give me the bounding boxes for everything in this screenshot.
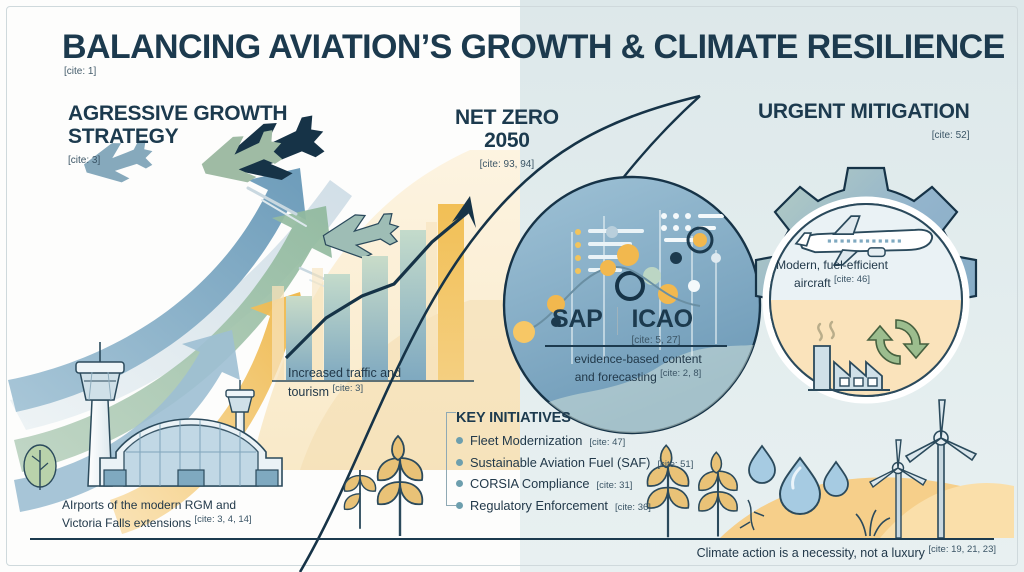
water-drop-icon	[780, 458, 820, 514]
footer-statement-citation: [cite: 19, 21, 23]	[928, 544, 996, 555]
key-initiative-label: Fleet Modernization	[470, 431, 582, 451]
section-heading-right-label: URGENT MITIGATION	[758, 100, 970, 123]
badge-divider	[617, 307, 618, 335]
key-initiative-label: CORSIA Compliance	[470, 474, 589, 494]
section-heading-left-line1: AGRESSIVE GROWTH	[68, 102, 287, 125]
footer-statement: Climate action is a necessity, not a lux…	[697, 544, 996, 560]
section-left-citation: [cite: 3]	[68, 149, 287, 172]
caption-increased-traffic-citation: [cite: 3]	[332, 383, 363, 394]
section-heading-center: NET ZERO 2050 [cite: 93, 94]	[455, 106, 559, 176]
bullet-dot-icon	[456, 459, 463, 466]
section-heading-center-line1: NET ZERO	[455, 106, 559, 129]
list-item: Sustainable Aviation Fuel (SAF) [cite: 5…	[456, 453, 693, 475]
footer-statement-text: Climate action is a necessity, not a lux…	[697, 546, 925, 560]
data-point	[600, 260, 616, 276]
section-heading-left-line2: STRATEGY	[68, 125, 178, 148]
badge-icao-wrap: ICAO [cite: 5, 27]	[632, 305, 693, 346]
data-bubble	[606, 226, 618, 238]
title-citation: [cite: 1]	[64, 66, 96, 77]
caption-modern-aircraft-citation: [cite: 46]	[834, 274, 870, 285]
key-initiative-citation: [cite: 51]	[657, 455, 693, 475]
key-initiative-citation: [cite: 47]	[589, 433, 625, 453]
badge-sap: SAP	[552, 305, 603, 334]
badge-subtitle-line1: evidence-based content	[574, 352, 701, 366]
caption-airports: AIrports of the modern RGM and Victoria …	[62, 498, 342, 530]
caption-airports-line2: Victoria Falls extensions	[62, 516, 191, 530]
caption-modern-aircraft-line1: Modern, fuel-efficient	[776, 258, 888, 272]
section-heading-left: AGRESSIVE GROWTH STRATEGY [cite: 3]	[68, 102, 287, 172]
caption-modern-aircraft-line2: aircraft	[794, 276, 831, 290]
badge-subtitle-line2: and forecasting	[575, 370, 657, 384]
page-title: BALANCING AVIATION’S GROWTH & CLIMATE RE…	[62, 28, 1005, 67]
data-bubble	[711, 253, 721, 263]
bullet-dot-icon	[456, 437, 463, 444]
section-heading-center-line2: 2050	[484, 129, 530, 152]
standards-badge-row: SAP ICAO [cite: 5, 27]	[552, 305, 693, 346]
data-bubble	[670, 252, 682, 264]
caption-airports-citation: [cite: 3, 4, 14]	[195, 514, 252, 525]
water-drop-icon	[749, 446, 775, 483]
caption-modern-aircraft: Modern, fuel-efficient aircraft [cite: 4…	[762, 258, 902, 290]
badge-subtitle-citation: [cite: 2, 8]	[660, 368, 701, 379]
footer-rule	[30, 538, 994, 540]
key-initiative-label: Regulatory Enforcement	[470, 496, 608, 516]
section-center-citation: [cite: 93, 94]	[455, 153, 559, 176]
key-initiatives-bracket	[446, 412, 456, 506]
list-item: Fleet Modernization [cite: 47]	[456, 431, 693, 453]
data-bubble	[693, 233, 707, 247]
water-drop-icon	[824, 462, 848, 496]
wheat-plant-icon	[344, 470, 375, 529]
section-right-citation: [cite: 52]	[758, 124, 970, 147]
key-initiative-citation: [cite: 36]	[615, 498, 651, 518]
key-initiatives-block: KEY INITIATIVES Fleet Modernization [cit…	[456, 410, 693, 517]
key-initiative-citation: [cite: 31]	[596, 476, 632, 496]
data-bubble	[617, 244, 639, 266]
badge-icao: ICAO	[632, 305, 693, 333]
infographic-poster: BALANCING AVIATION’S GROWTH & CLIMATE RE…	[0, 0, 1024, 572]
key-initiatives-title: KEY INITIATIVES	[456, 410, 693, 426]
data-point	[513, 321, 535, 343]
wheat-plant-icon	[699, 452, 737, 536]
section-heading-right: URGENT MITIGATION [cite: 52]	[758, 100, 970, 147]
caption-airports-line1: AIrports of the modern RGM and	[62, 498, 236, 512]
badge-underline	[545, 345, 727, 347]
badge-subtitle: evidence-based content and forecasting […	[543, 352, 733, 384]
list-item: Regulatory Enforcement [cite: 36]	[456, 496, 693, 518]
bullet-dot-icon	[456, 480, 463, 487]
list-item: CORSIA Compliance [cite: 31]	[456, 474, 693, 496]
bullet-dot-icon	[456, 502, 463, 509]
caption-increased-traffic: Increased traffic and tourism [cite: 3]	[288, 366, 438, 400]
data-bubble	[688, 280, 700, 292]
data-bubble	[643, 267, 661, 285]
key-initiative-label: Sustainable Aviation Fuel (SAF)	[470, 453, 650, 473]
